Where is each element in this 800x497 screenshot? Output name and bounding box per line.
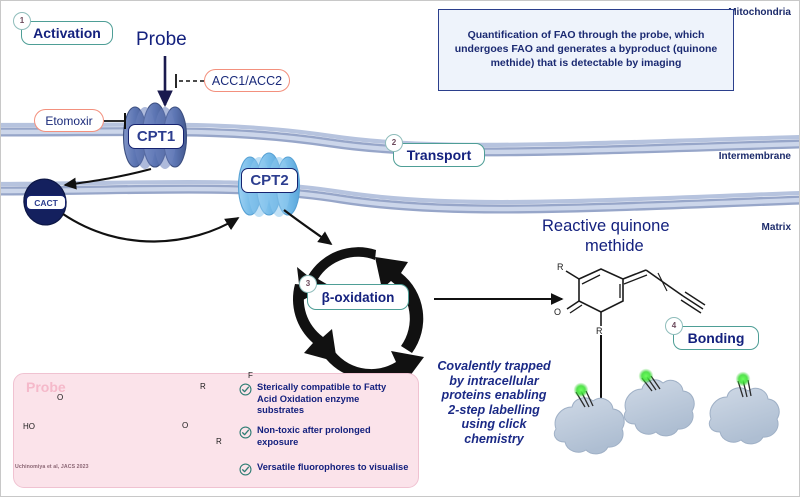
reactive-quinone-title-line2: methide bbox=[585, 237, 644, 256]
labelled-protein-1 bbox=[554, 383, 624, 454]
step-number-4: 4 bbox=[665, 317, 683, 335]
info-box: Quantification of FAO through the probe,… bbox=[438, 9, 734, 91]
reactive-quinone-title-line1: Reactive quinone bbox=[542, 217, 670, 236]
covalent-trapping-caption: Covalently trapped by intracellular prot… bbox=[435, 359, 553, 447]
protein-cact-text: CACT bbox=[34, 198, 58, 208]
compartment-label-intermembrane: Intermembrane bbox=[719, 151, 791, 162]
step-number-3: 3 bbox=[299, 275, 317, 293]
inner-membrane bbox=[1, 182, 800, 209]
step-number-1: 1 bbox=[13, 12, 31, 30]
compartment-label-mitochondria: Mitochondria bbox=[728, 7, 791, 18]
cact-to-cpt2-arrow bbox=[63, 214, 238, 242]
step-badge-bonding[interactable]: 4 Bonding bbox=[673, 326, 759, 350]
step-badge-transport[interactable]: 2 Transport bbox=[393, 143, 485, 167]
quinone-methide-structure bbox=[566, 269, 705, 326]
inhibitor-acc1-acc2[interactable]: ACC1/ACC2 bbox=[204, 69, 290, 92]
quinone-atom-r-top: R bbox=[557, 262, 564, 272]
inhibitor-etomoxir-label: Etomoxir bbox=[45, 114, 92, 128]
probe-atom-ether-o: O bbox=[182, 421, 188, 430]
labelled-protein-3 bbox=[709, 372, 779, 444]
probe-atom-r-top: R bbox=[200, 382, 206, 391]
probe-atom-f: F bbox=[248, 371, 253, 380]
check-circle-icon bbox=[239, 426, 252, 439]
inhibitor-etomoxir[interactable]: Etomoxir bbox=[34, 109, 104, 132]
inhibitor-acc1-acc2-label: ACC1/ACC2 bbox=[212, 74, 282, 88]
info-box-text: Quantification of FAO through the probe,… bbox=[447, 29, 725, 71]
step-badge-activation[interactable]: 1 Activation bbox=[21, 21, 113, 45]
probe-bullet-2: Non-toxic after prolonged exposure bbox=[239, 425, 407, 448]
labelled-protein-2 bbox=[624, 369, 694, 436]
probe-atom-r-bottom: R bbox=[216, 437, 222, 446]
compartment-label-matrix: Matrix bbox=[762, 222, 791, 233]
step-badge-beta-oxidation[interactable]: 3 β-oxidation bbox=[307, 284, 409, 310]
probe-label: Probe bbox=[136, 29, 187, 51]
step-label-beta-oxidation: β-oxidation bbox=[322, 290, 395, 305]
protein-label-cpt2[interactable]: CPT2 bbox=[241, 168, 298, 193]
quinone-atom-o: O bbox=[554, 307, 561, 317]
step-label-bonding: Bonding bbox=[688, 330, 745, 346]
probe-bullet-3-text: Versatile fluorophores to visualise bbox=[257, 462, 408, 474]
probe-bullet-2-text: Non-toxic after prolonged exposure bbox=[257, 425, 407, 448]
check-circle-icon bbox=[239, 463, 252, 476]
step-number-2: 2 bbox=[385, 134, 403, 152]
probe-atom-carbonyl-o: O bbox=[57, 393, 63, 402]
probe-bullet-1: Sterically compatible to Fatty Acid Oxid… bbox=[239, 382, 407, 417]
step-label-transport: Transport bbox=[407, 147, 472, 163]
diagram-canvas: 1 Activation 2 Transport 3 β-oxidation 4… bbox=[0, 0, 800, 497]
quinone-atom-r-bottom: R bbox=[596, 326, 603, 336]
step-label-activation: Activation bbox=[33, 25, 101, 41]
check-circle-icon bbox=[239, 383, 252, 396]
probe-bullet-1-text: Sterically compatible to Fatty Acid Oxid… bbox=[257, 382, 407, 417]
cpt2-to-boxidation-arrow bbox=[284, 210, 331, 244]
protein-cpt2-text: CPT2 bbox=[250, 172, 288, 189]
protein-label-cact[interactable]: CACT bbox=[26, 195, 66, 210]
probe-citation: Uchinomiya et al, JACS 2023 bbox=[15, 464, 89, 470]
protein-label-cpt1[interactable]: CPT1 bbox=[128, 124, 184, 149]
beta-oxidation-cycle-arrows bbox=[293, 247, 424, 384]
protein-cpt1-text: CPT1 bbox=[137, 128, 175, 145]
probe-bullet-3: Versatile fluorophores to visualise bbox=[239, 462, 415, 476]
acc-inhibition-connector bbox=[176, 74, 204, 88]
probe-atom-ho: HO bbox=[23, 422, 35, 431]
